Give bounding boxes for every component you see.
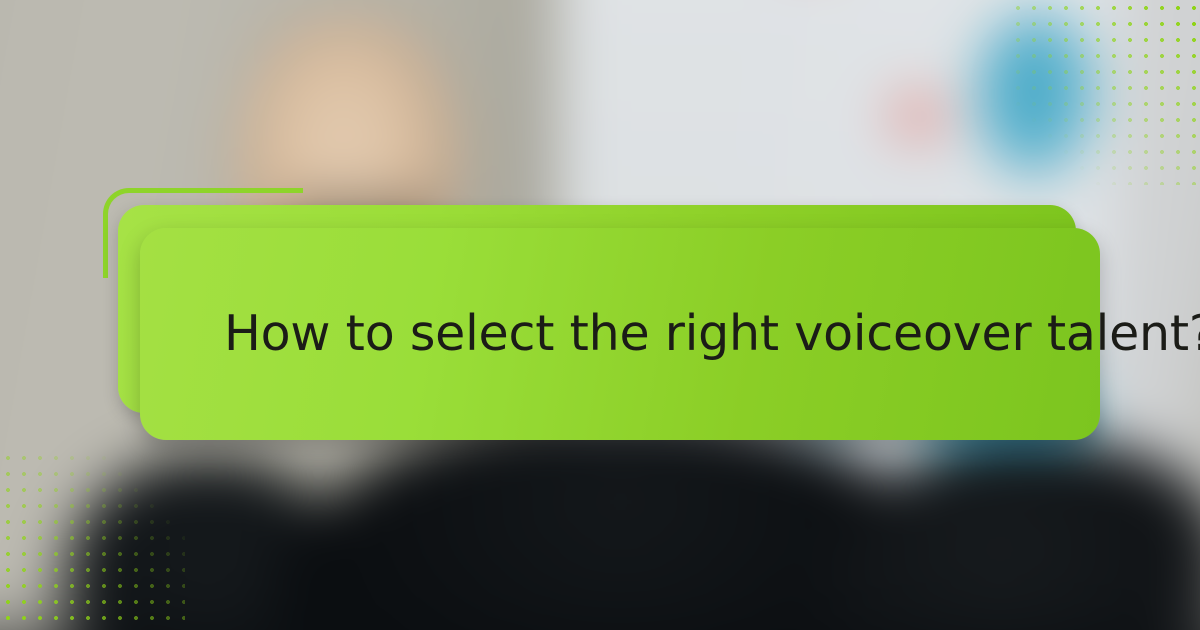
- teal-shape: [978, 13, 1097, 180]
- silhouette-foreground: [0, 601, 1200, 630]
- outline-bracket-cap: [297, 188, 303, 193]
- title-card: How to select the right voiceover talent…: [140, 228, 1100, 440]
- outline-bracket-cap: [103, 272, 108, 278]
- red-marker-blob: [887, 92, 951, 140]
- banner: How to select the right voiceover talent…: [0, 0, 1200, 630]
- page-title: How to select the right voiceover talent…: [224, 307, 1200, 362]
